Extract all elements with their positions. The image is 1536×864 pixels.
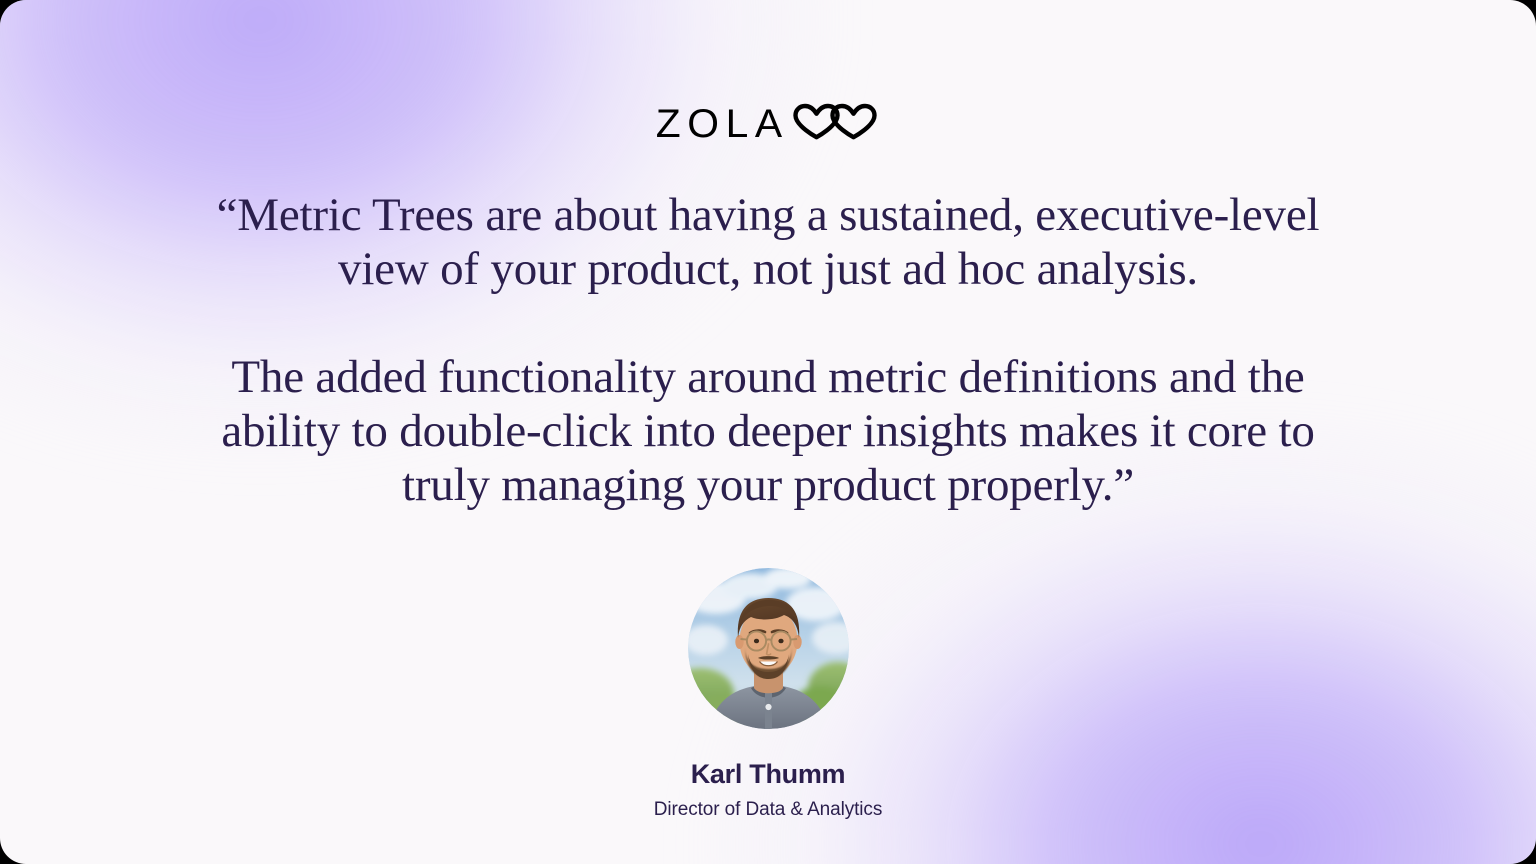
double-heart-icon <box>791 103 879 146</box>
person-name: Karl Thumm <box>691 760 846 790</box>
quote-paragraph-1: “Metric Trees are about having a sustain… <box>188 188 1348 296</box>
quote-paragraph-2: The added functionality around metric de… <box>188 350 1348 512</box>
person-role: Director of Data & Analytics <box>654 800 882 821</box>
zola-logo: ZOLA <box>657 104 879 144</box>
card-content: ZOLA “Metric Trees are about having a su… <box>0 0 1536 864</box>
testimonial-quote: “Metric Trees are about having a sustain… <box>188 188 1348 512</box>
quote-paragraph-spacer <box>188 296 1348 350</box>
avatar <box>688 568 849 729</box>
testimonial-card: ZOLA “Metric Trees are about having a su… <box>0 0 1536 864</box>
zola-wordmark: ZOLA <box>655 104 788 144</box>
